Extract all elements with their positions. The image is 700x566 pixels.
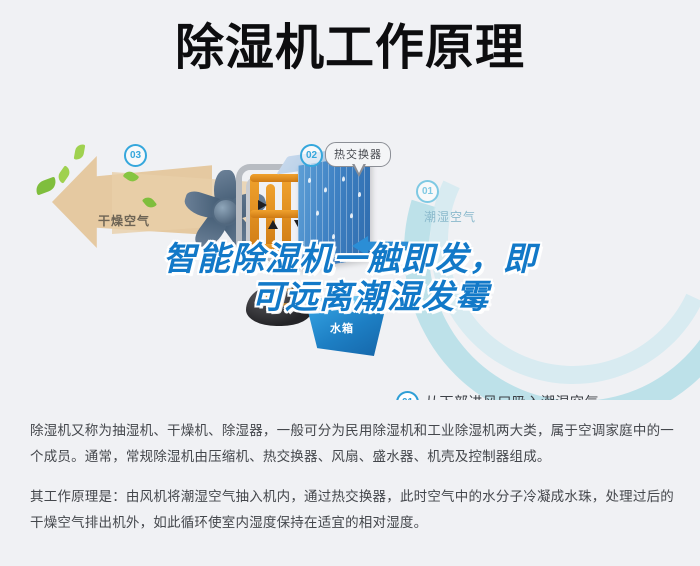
leaf-icon <box>34 177 59 196</box>
paragraph-1: 除湿机又称为抽湿机、干燥机、除湿器，一般可分为民用除湿机和工业除湿机两大类，属于… <box>30 418 674 470</box>
diagram-badge-01: 01 <box>416 180 439 203</box>
leaf-icon <box>56 165 73 183</box>
humid-air-label: 潮湿空气 <box>424 208 476 225</box>
title-main: 除湿机 <box>175 22 325 73</box>
list-item: 01 从下部进风口吸入潮湿空气 <box>396 383 696 400</box>
page-root: 除湿机工作原理 03 干燥空气 <box>0 0 700 566</box>
page-title: 除湿机工作原理 <box>0 22 700 73</box>
paragraph-2: 其工作原理是：由风机将潮湿空气抽入机内，通过热交换器，此时空气中的水分子冷凝成水… <box>30 484 674 536</box>
step-list: 01 从下部进风口吸入潮湿空气 02 水分子通过蒸发器冷凝成水珠 03 从上部出… <box>396 383 696 400</box>
leaf-icon <box>74 143 86 160</box>
water-tank-label: 水箱 <box>330 320 354 336</box>
callout-tail-inner-icon <box>354 163 364 173</box>
body-copy: 除湿机又称为抽湿机、干燥机、除湿器，一般可分为民用除湿机和工业除湿机两大类，属于… <box>30 418 674 536</box>
step-text: 从下部进风口吸入潮湿空气 <box>425 392 599 400</box>
dry-air-label: 干燥空气 <box>98 212 150 229</box>
step-badge: 01 <box>396 391 419 401</box>
diagram-badge-02: 02 <box>300 144 323 167</box>
title-sub: 工作原理 <box>325 22 525 73</box>
compressor-ring-icon <box>264 288 306 306</box>
diagram-badge-03: 03 <box>124 144 147 167</box>
flow-arrow-right-icon <box>258 200 267 210</box>
flow-arrow-up-icon <box>268 220 278 229</box>
illustration-stage: 03 干燥空气 <box>0 128 700 400</box>
